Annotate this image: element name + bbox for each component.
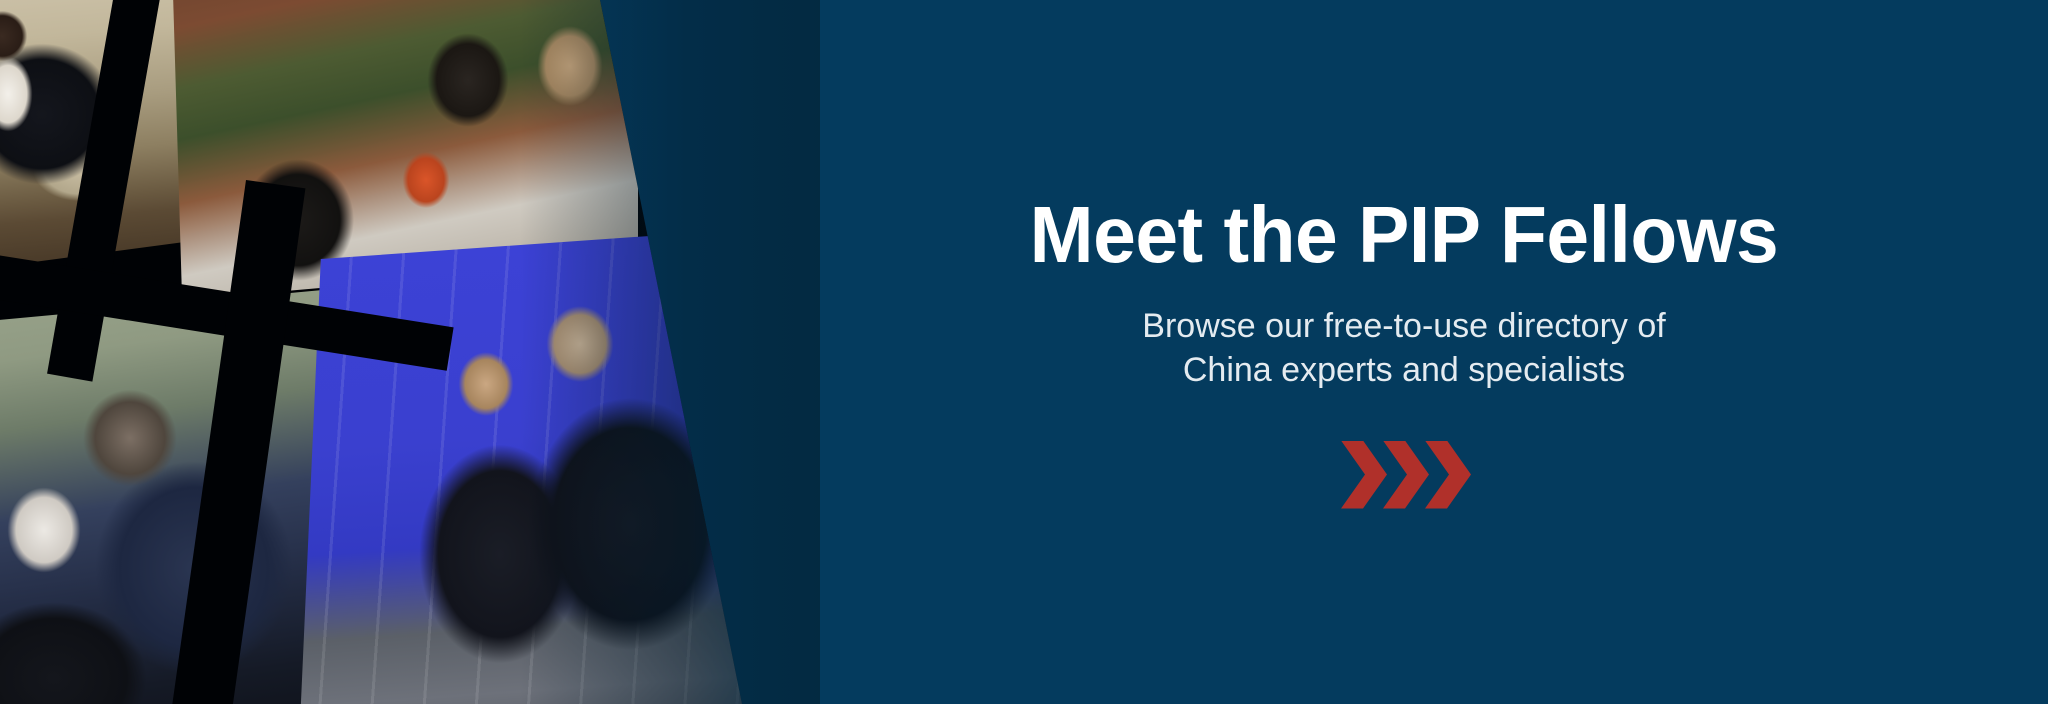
- chevron-right-icon: [1425, 441, 1471, 509]
- chevron-right-icon: [1341, 441, 1387, 509]
- hero-subtitle: Browse our free-to-use directory of Chin…: [1142, 305, 1665, 392]
- page-title: Meet the PIP Fellows: [1030, 195, 1779, 275]
- hero-banner: Meet the PIP Fellows Browse our free-to-…: [0, 0, 2048, 704]
- browse-directory-button[interactable]: [1341, 441, 1467, 509]
- hero-content: Meet the PIP Fellows Browse our free-to-…: [760, 0, 2048, 704]
- chevron-right-icon: [1383, 441, 1429, 509]
- hero-subtitle-line-2: China experts and specialists: [1142, 349, 1665, 393]
- hero-subtitle-line-1: Browse our free-to-use directory of: [1142, 305, 1665, 349]
